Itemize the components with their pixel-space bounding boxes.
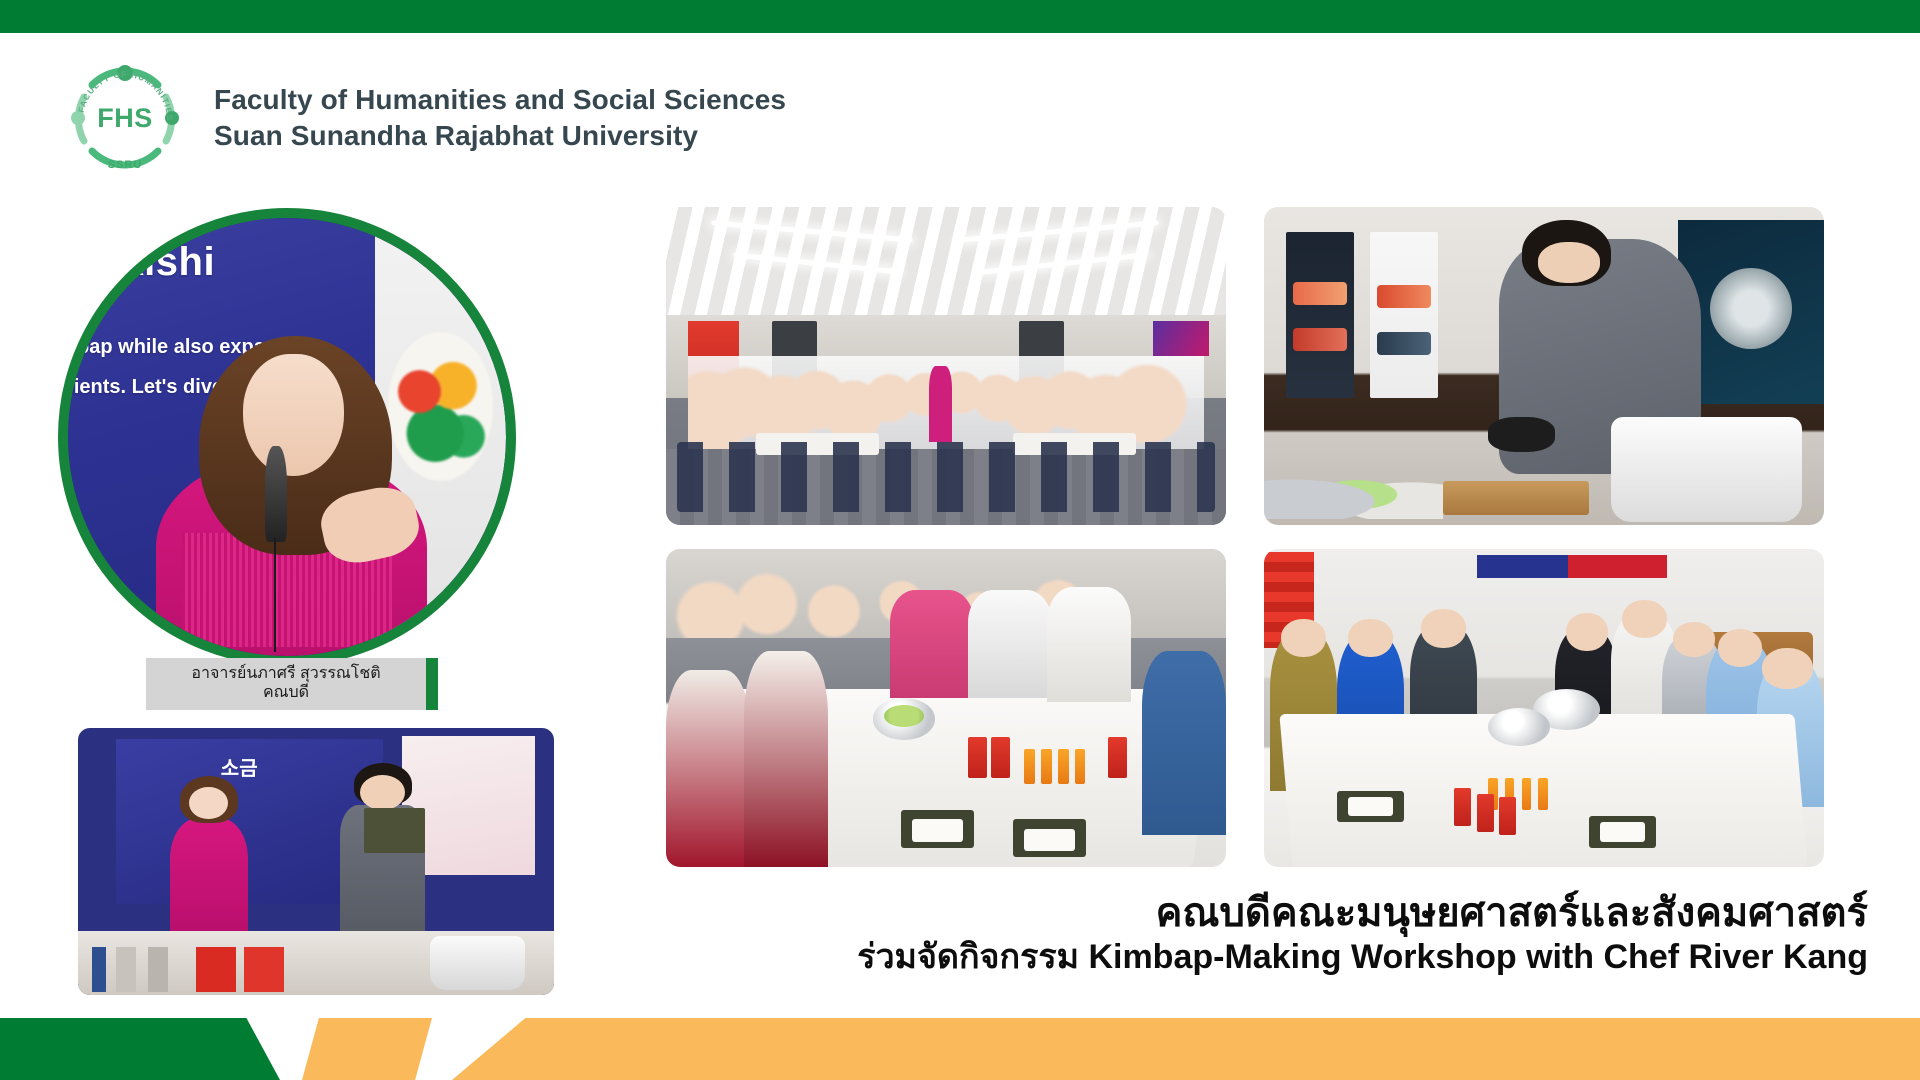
photo-dean-and-chef: 소금 (78, 728, 554, 995)
roll-up-banner-1 (1286, 232, 1353, 397)
event-caption-line-1: คณบดีคณะมนุษยศาสตร์และสังคมศาสตร์ (618, 890, 1868, 937)
gallery-photo-chef (1264, 207, 1824, 525)
event-caption-line-2: ร่วมจัดกิจกรรม Kimbap-Making Workshop wi… (618, 937, 1868, 978)
slide-food-photo (388, 332, 493, 481)
rice-cooker (430, 936, 525, 989)
nori-sheet (364, 808, 426, 853)
event-caption: คณบดีคณะมนุษยศาสตร์และสังคมศาสตร์ ร่วมจั… (618, 890, 1868, 979)
chairs-row (677, 442, 1215, 512)
page-header: FACULTY OF HUMANITIES AND SOCIAL SCIENCE… (62, 58, 962, 178)
dean-portrait-circle: akishi mbap while also expanding edients… (58, 208, 516, 666)
dean-caption-role: คณบดี (263, 684, 309, 703)
dean-caption-name: อาจารย์นภาศรี สุวรรณโชติ (191, 665, 380, 684)
header-line-1: Faculty of Humanities and Social Science… (214, 82, 786, 118)
photo-gallery-grid (666, 207, 1824, 867)
svg-text:FHS: FHS (97, 103, 153, 133)
rice-cooker (1611, 417, 1801, 522)
svg-text:SSRU: SSRU (108, 159, 143, 171)
black-glove (1488, 417, 1555, 452)
microphone-cord (274, 538, 276, 652)
bottom-bar-green-shape (0, 1018, 280, 1080)
cutting-board (1443, 481, 1589, 516)
prep-bowls (1264, 461, 1443, 518)
fhs-ssru-logo-icon: FACULTY OF HUMANITIES AND SOCIAL SCIENCE… (62, 55, 188, 181)
seated-person (890, 590, 974, 698)
wall-banner (1477, 555, 1667, 577)
rice-layer (1600, 822, 1645, 841)
mixing-bowl (1488, 708, 1550, 746)
seated-person (1142, 651, 1226, 835)
gallery-photo-staff (1264, 549, 1824, 867)
seated-person (744, 651, 828, 867)
dean-figure (168, 776, 249, 931)
dean-face (243, 354, 344, 477)
seated-person (666, 670, 750, 867)
ingredient-containers (92, 947, 292, 992)
roll-up-banner-2 (1370, 232, 1437, 397)
wall-poster-right (1153, 321, 1209, 356)
header-title-block: Faculty of Humanities and Social Science… (214, 82, 786, 155)
seated-person (968, 590, 1052, 698)
gallery-photo-group (666, 207, 1226, 525)
top-green-bar (0, 0, 1920, 33)
bottom-decorative-bar (0, 1018, 1920, 1080)
caption-green-accent-bar (426, 658, 438, 710)
rice-layer (912, 819, 962, 841)
dean-in-crowd (929, 366, 951, 442)
dean-caption-box: อาจารย์นภาศรี สุวรรณโชติ คณบดี (146, 658, 426, 710)
microphone-icon (265, 446, 287, 542)
gallery-photo-students (666, 549, 1226, 867)
rice-layer (1348, 797, 1393, 816)
seated-person (1047, 587, 1131, 701)
bottom-bar-orange-slash (302, 1018, 432, 1080)
header-line-2: Suan Sunandha Rajabhat University (214, 118, 786, 154)
slide-heading-text: akishi (99, 240, 215, 285)
rice-layer (1024, 829, 1074, 851)
chopped-vegetables (884, 705, 923, 727)
chef-face (1538, 242, 1600, 283)
dean-portrait-image: akishi mbap while also expanding edients… (68, 218, 506, 656)
bottom-bar-orange-shape (452, 1018, 1920, 1080)
